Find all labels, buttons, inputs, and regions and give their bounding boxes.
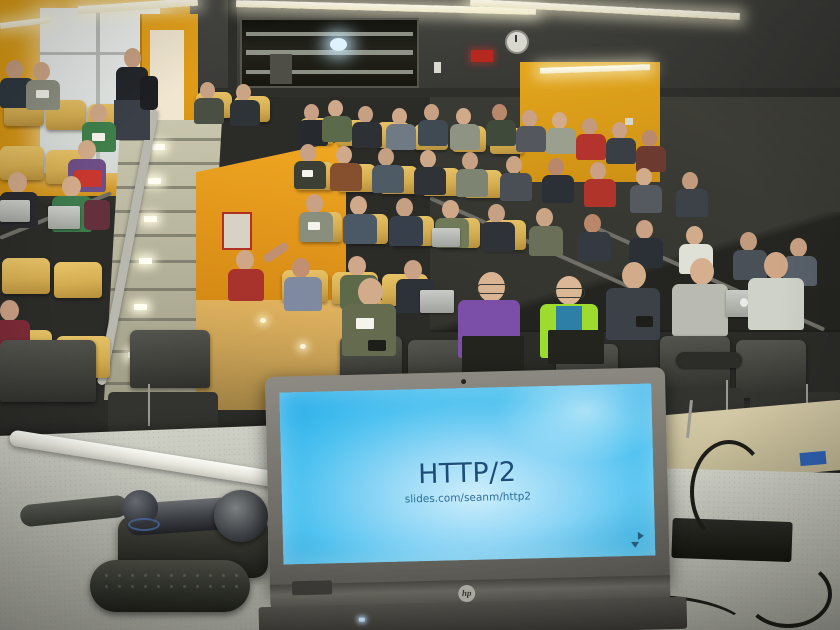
stair-step-light <box>134 304 147 310</box>
nav-arrow-down-icon[interactable] <box>631 542 639 548</box>
empty-chair-back[interactable] <box>108 392 218 432</box>
presenter-laptop[interactable]: HTTP/2 slides.com/seanm/http2 hp <box>265 367 671 630</box>
floor-light-reflection <box>260 318 266 323</box>
slide-title: HTTP/2 <box>281 453 654 493</box>
slide-nav-arrows[interactable] <box>622 530 644 549</box>
floor-light-reflection <box>300 344 306 349</box>
wall-outlet <box>625 118 633 125</box>
tablet-arm-desk[interactable] <box>676 352 742 368</box>
laptop-hinge <box>292 580 332 595</box>
empty-chair[interactable] <box>0 340 96 402</box>
projection-booth-window <box>240 18 419 88</box>
wall-switch <box>434 62 441 73</box>
cable-loop <box>690 440 768 544</box>
fire-extinguisher-cabinet <box>222 212 252 250</box>
stair-step-light <box>139 258 152 264</box>
eyeglasses-icon <box>477 284 508 294</box>
table-label-sticker <box>799 451 826 466</box>
stair-step-light <box>144 216 157 222</box>
apple-logo-icon <box>740 298 748 307</box>
stair-step-light <box>148 178 161 184</box>
eyeglasses-icon <box>554 288 585 298</box>
seat[interactable] <box>2 258 50 294</box>
exit-sign <box>471 50 493 62</box>
ceiling-beam-vertical <box>228 0 237 96</box>
empty-chair[interactable] <box>736 340 806 398</box>
laptop-screen[interactable]: HTTP/2 slides.com/seanm/http2 <box>279 383 655 564</box>
seat[interactable] <box>54 262 102 298</box>
nav-arrow-right-icon[interactable] <box>638 532 644 540</box>
lecture-hall-photo: HTTP/2 slides.com/seanm/http2 hp <box>0 0 840 630</box>
booth-light-reflection <box>330 38 347 51</box>
webcam-icon <box>461 379 466 384</box>
power-led-icon <box>359 618 365 622</box>
cable-loop <box>744 560 832 628</box>
document-camera-lens[interactable] <box>214 490 268 542</box>
gel-wrist-rest[interactable] <box>90 560 250 612</box>
empty-chair[interactable] <box>130 330 210 388</box>
wall-clock <box>505 30 529 54</box>
stair-step-light <box>152 144 165 150</box>
knob-blue-ring <box>128 518 160 531</box>
chair-leg <box>148 384 150 426</box>
